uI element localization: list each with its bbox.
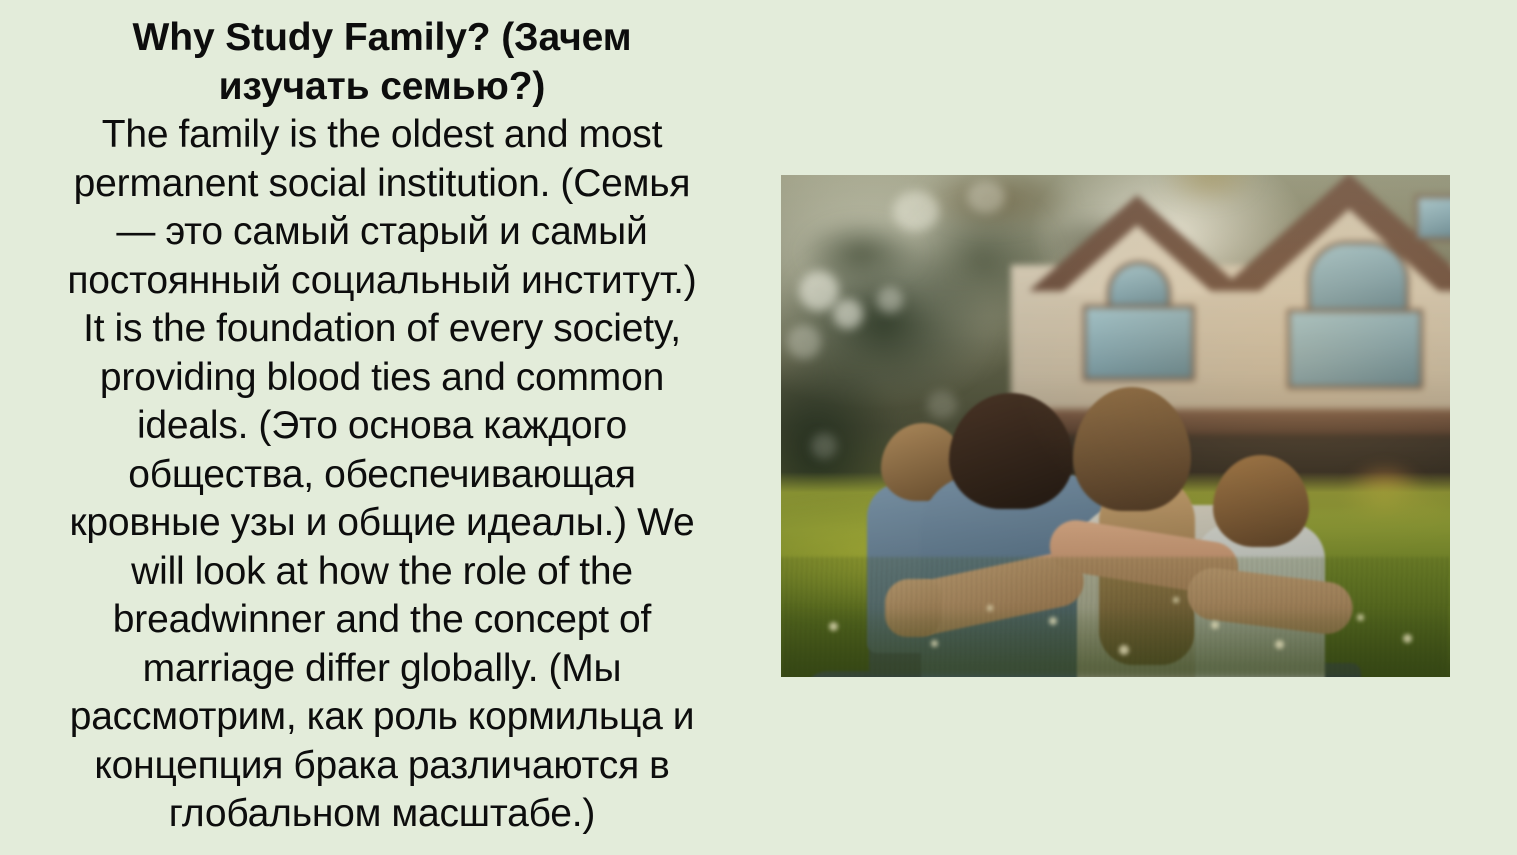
grass-bokeh [829, 622, 838, 631]
body-line-12: marriage differ globally. (Мы [143, 647, 622, 690]
father-hair [949, 393, 1073, 509]
grass-bokeh [1211, 621, 1219, 629]
body-line-3: — это самый старый и самый [116, 210, 647, 253]
slide-text-column: Why Study Family? (Зачемизучать семью?) … [12, 14, 752, 839]
grass-bokeh [1357, 614, 1364, 621]
body-line-11: breadwinner and the concept of [113, 598, 651, 641]
mother-hair [1073, 387, 1191, 511]
body-line-14: концепция брака различаются в [94, 744, 669, 787]
body-line-8: общества, обеспечивающая [128, 453, 636, 496]
slide-body-text: The family is the oldest and mostpermane… [12, 111, 752, 839]
family-photo [781, 175, 1450, 677]
grass-bokeh [987, 605, 993, 611]
title-line-1: Why Study Family? (Зачем [133, 16, 632, 59]
body-line-15: глобальном масштабе.) [169, 792, 595, 835]
grass-foreground-blur [781, 613, 1450, 677]
slide: Why Study Family? (Зачемизучать семью?) … [0, 0, 1517, 855]
grass-bokeh [1275, 640, 1284, 649]
body-line-2: permanent social institution. (Семья [74, 162, 691, 205]
grass-bokeh [1049, 617, 1057, 625]
grass-bokeh [1173, 597, 1179, 603]
grass-bokeh [1119, 645, 1129, 655]
body-line-4: постоянный социальный институт.) [67, 259, 696, 302]
body-line-9: кровные узы и общие идеалы.) We [69, 501, 694, 544]
body-line-5: It is the foundation of every society, [83, 307, 681, 350]
body-line-13: рассмотрим, как роль кормильца и [70, 695, 695, 738]
photo-scene [781, 175, 1450, 677]
page-title: Why Study Family? (Зачемизучать семью?) [12, 14, 752, 111]
grass-bokeh [1403, 634, 1412, 643]
child-right-hair [1213, 455, 1309, 547]
body-line-6: providing blood ties and common [100, 356, 664, 399]
body-line-1: The family is the oldest and most [102, 113, 663, 156]
body-line-10: will look at how the role of the [131, 550, 633, 593]
body-line-7: ideals. (Это основа каждого [137, 404, 627, 447]
grass-bokeh [931, 640, 938, 647]
title-line-2: изучать семью?) [219, 65, 546, 108]
